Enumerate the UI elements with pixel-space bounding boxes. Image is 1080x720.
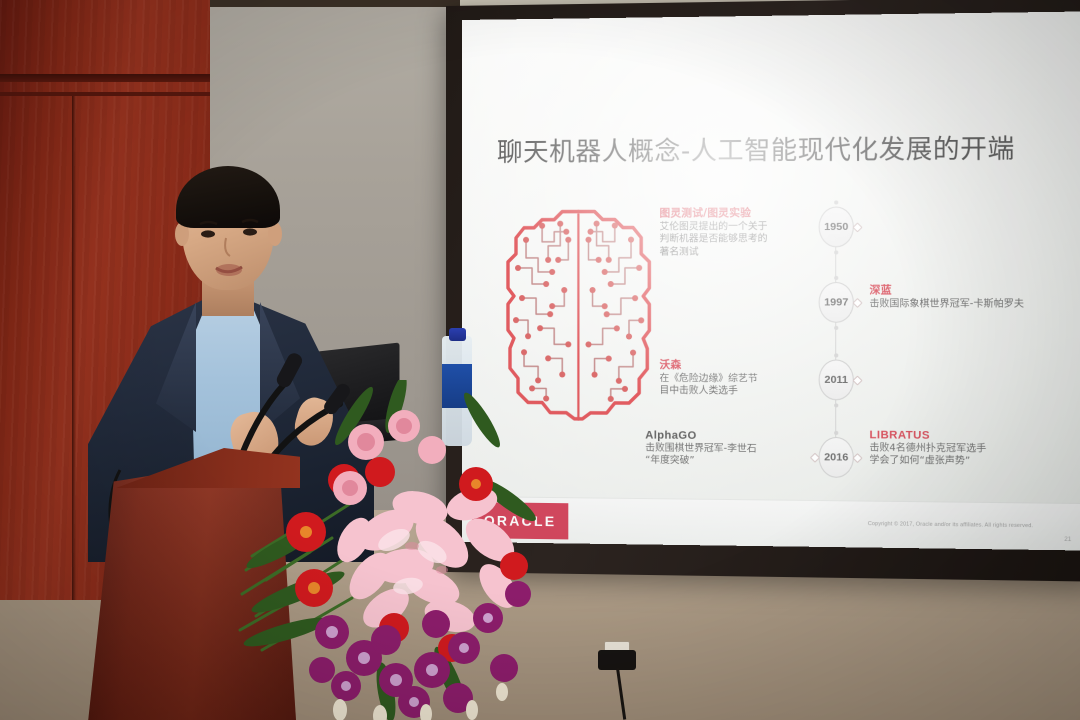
timeline-marker-diamond: [852, 222, 862, 232]
timeline-event-deep-blue: 深蓝 击败国际象棋世界冠军-卡斯帕罗夫: [869, 282, 1079, 311]
timeline-year-label: 2011: [819, 359, 854, 400]
timeline-year-label: 1997: [819, 282, 854, 323]
timeline-year-label: 2016: [819, 437, 854, 478]
event-heading: 图灵测试/图灵实验: [659, 205, 813, 221]
timeline-year-label: 1950: [819, 206, 854, 247]
event-heading: 沃森: [659, 357, 813, 373]
water-bottle-cap: [449, 328, 466, 341]
event-heading: 深蓝: [869, 282, 1079, 297]
wood-seam: [0, 92, 210, 96]
timeline-marker-diamond: [852, 298, 862, 308]
timeline-axis: 1950 1997 2011 2016: [812, 206, 860, 480]
slide-number: 21: [1064, 537, 1071, 543]
timeline-node-2016: 2016: [812, 437, 860, 478]
timeline-node-1950: 1950: [812, 206, 860, 247]
timeline-node-1997: 1997: [812, 282, 860, 323]
slide-title: 聊天机器人概念-人工智能现代化发展的开端: [497, 127, 1053, 168]
timeline-event-turing-test: 图灵测试/图灵实验 艾伦图灵提出的一个关于 判断机器是否能够思考的 著名测试: [659, 205, 813, 259]
floral-arrangement: [236, 380, 566, 720]
event-body: 在《危险边缘》综艺节 目中击败人类选手: [659, 373, 813, 399]
event-body: 艾伦图灵提出的一个关于 判断机器是否能够思考的 著名测试: [659, 221, 813, 259]
event-body: 击败国际象棋世界冠军-卡斯帕罗夫: [869, 298, 1079, 311]
timeline-event-watson: 沃森 在《危险边缘》综艺节 目中击败人类选手: [659, 357, 813, 399]
presentation-photo-scene: 聊天机器人概念-人工智能现代化发展的开端: [0, 0, 1080, 720]
wood-seam: [0, 74, 210, 82]
event-heading: LIBRATUS: [869, 429, 1079, 443]
copyright-notice: Copyright © 2017, Oracle and/or its affi…: [868, 521, 1033, 529]
event-body: 击败4名德州扑克冠军选手 学会了如何“虚张声势”: [869, 442, 1079, 469]
timeline-event-libratus: LIBRATUS 击败4名德州扑克冠军选手 学会了如何“虚张声势”: [869, 429, 1079, 470]
timeline-marker-diamond: [852, 375, 862, 385]
timeline-event-alphago: AlphaGO 击败围棋世界冠军-李世石 “年度突破”: [645, 429, 814, 469]
timeline-node-2011: 2011: [812, 359, 860, 400]
event-body: 击败围棋世界冠军-李世石 “年度突破”: [645, 443, 814, 470]
timeline-marker-diamond: [852, 453, 862, 463]
event-heading: AlphaGO: [645, 429, 814, 443]
